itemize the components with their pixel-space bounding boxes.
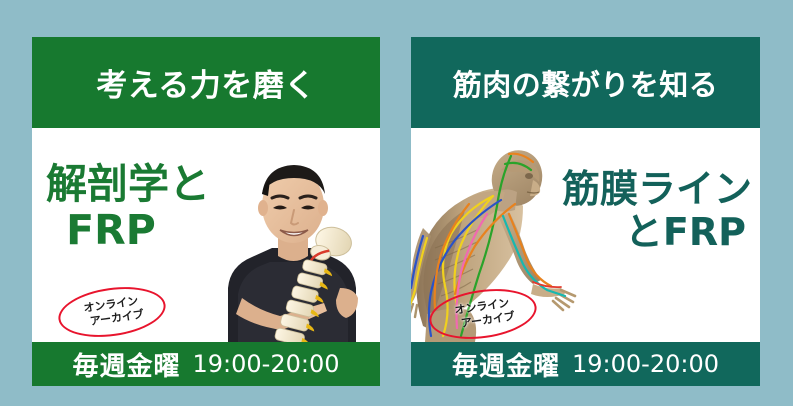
footer-time-label: 19:00-20:00 bbox=[193, 350, 340, 378]
card-body-anatomy: 解剖学と FRP bbox=[32, 128, 380, 342]
card-title-anatomy: 解剖学と FRP bbox=[46, 162, 210, 254]
card-footer-anatomy: 毎週金曜 19:00-20:00 bbox=[32, 342, 380, 386]
card-header-anatomy: 考える力を磨く bbox=[32, 37, 380, 128]
online-archive-badge: オンライン アーカイブ bbox=[55, 281, 169, 342]
course-card-fascia-frp[interactable]: 筋肉の繋がりを知る bbox=[411, 37, 760, 386]
card-title-line2: とFRP bbox=[562, 211, 752, 254]
card-title-line1: 解剖学と bbox=[46, 160, 210, 208]
instructor-photo bbox=[208, 138, 380, 342]
card-header-fascia: 筋肉の繋がりを知る bbox=[411, 37, 760, 128]
card-footer-fascia: 毎週金曜 19:00-20:00 bbox=[411, 342, 760, 386]
footer-day-label: 毎週金曜 bbox=[452, 346, 560, 383]
footer-time-label: 19:00-20:00 bbox=[572, 350, 719, 378]
card-title-line2: FRP bbox=[46, 208, 210, 254]
banner-stage: 考える力を磨く 解剖学と FRP bbox=[0, 0, 793, 406]
card-title-line1: 筋膜ライン bbox=[562, 167, 752, 211]
course-card-anatomy-frp[interactable]: 考える力を磨く 解剖学と FRP bbox=[32, 37, 380, 386]
card-title-fascia: 筋膜ライン とFRP bbox=[562, 168, 752, 253]
card-body-fascia: 筋膜ライン とFRP オンライン アーカイブ bbox=[411, 128, 760, 342]
footer-day-label: 毎週金曜 bbox=[72, 346, 180, 383]
